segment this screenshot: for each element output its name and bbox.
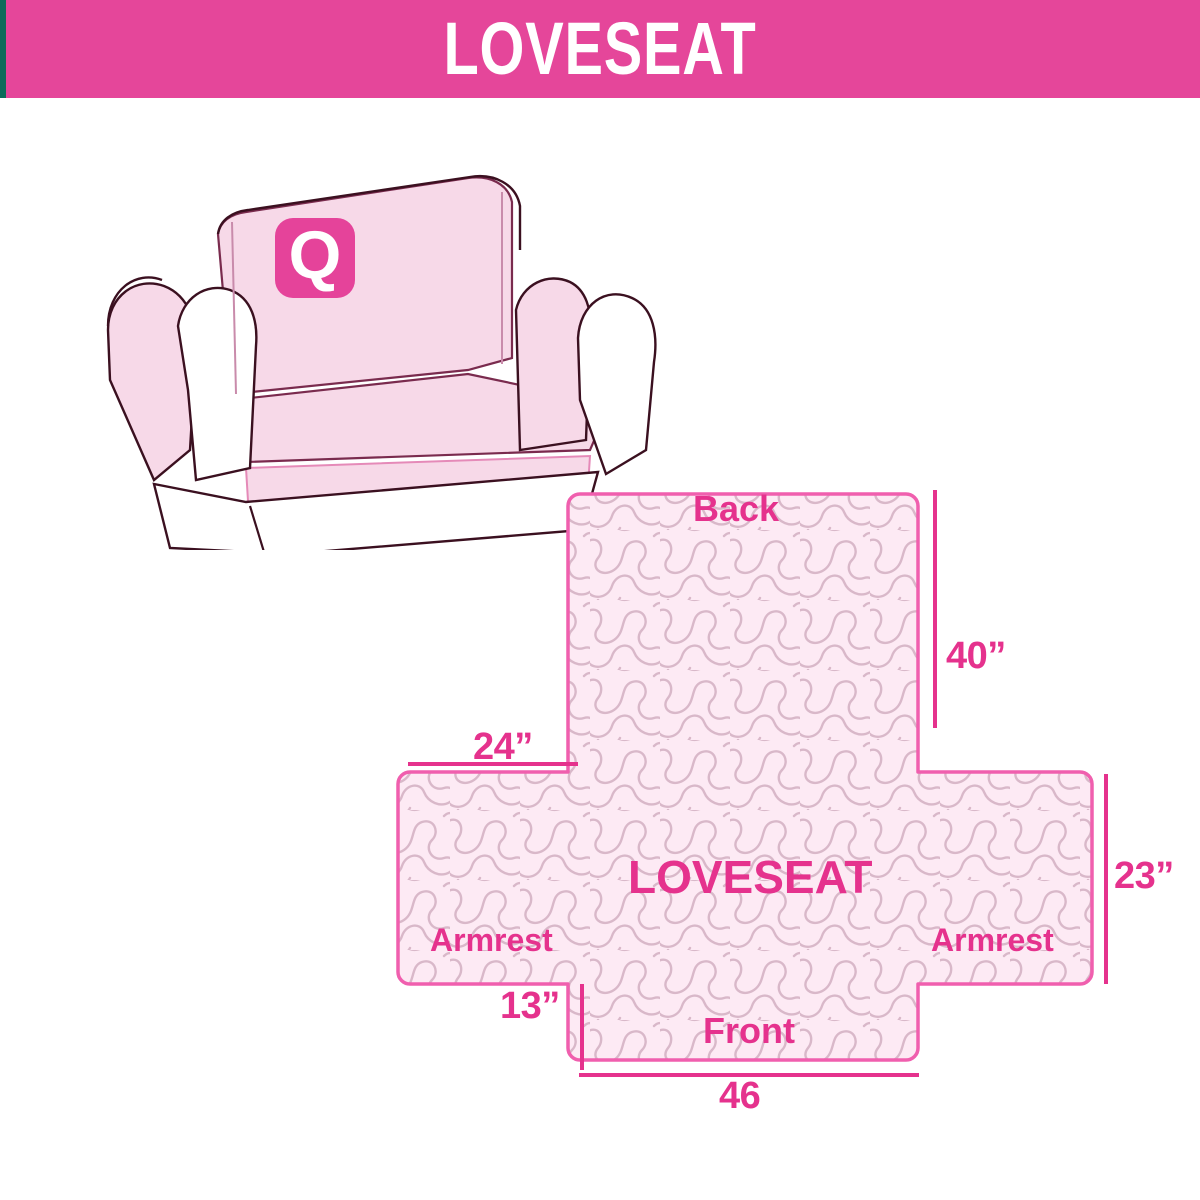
panel-label-front: Front [703,1010,795,1052]
dimension-label-front-height: 13” [500,985,560,1028]
header-banner: LOVESEAT [0,0,1200,98]
slipcover-cross-shape [398,494,1092,1060]
logo-letter-q: Q [289,217,342,293]
dimension-rule-back-height [933,490,937,728]
brand-logo: Q [275,217,355,298]
panel-label-center-loveseat: LOVESEAT [628,850,873,904]
dimension-rule-front-height [580,984,584,1070]
dimension-label-back-height: 40” [946,635,1006,678]
dimension-rule-armrest-height [1104,774,1108,984]
panel-label-armrest-left: Armrest [430,922,553,959]
dimension-label-armrest-height: 23” [1114,855,1174,898]
pattern-diagram: Back LOVESEAT Armrest Armrest Front 40” … [380,460,1200,1140]
panel-label-back: Back [693,488,779,530]
header-accent-strip [0,0,6,98]
panel-label-armrest-right: Armrest [931,922,1054,959]
sofa-backrest-cushion [218,177,512,394]
dimension-label-front-width: 46 [719,1075,760,1118]
page-title: LOVESEAT [132,0,1068,98]
dimension-label-back-offset: 24” [473,726,533,769]
slipcover-outline [398,494,1092,1060]
